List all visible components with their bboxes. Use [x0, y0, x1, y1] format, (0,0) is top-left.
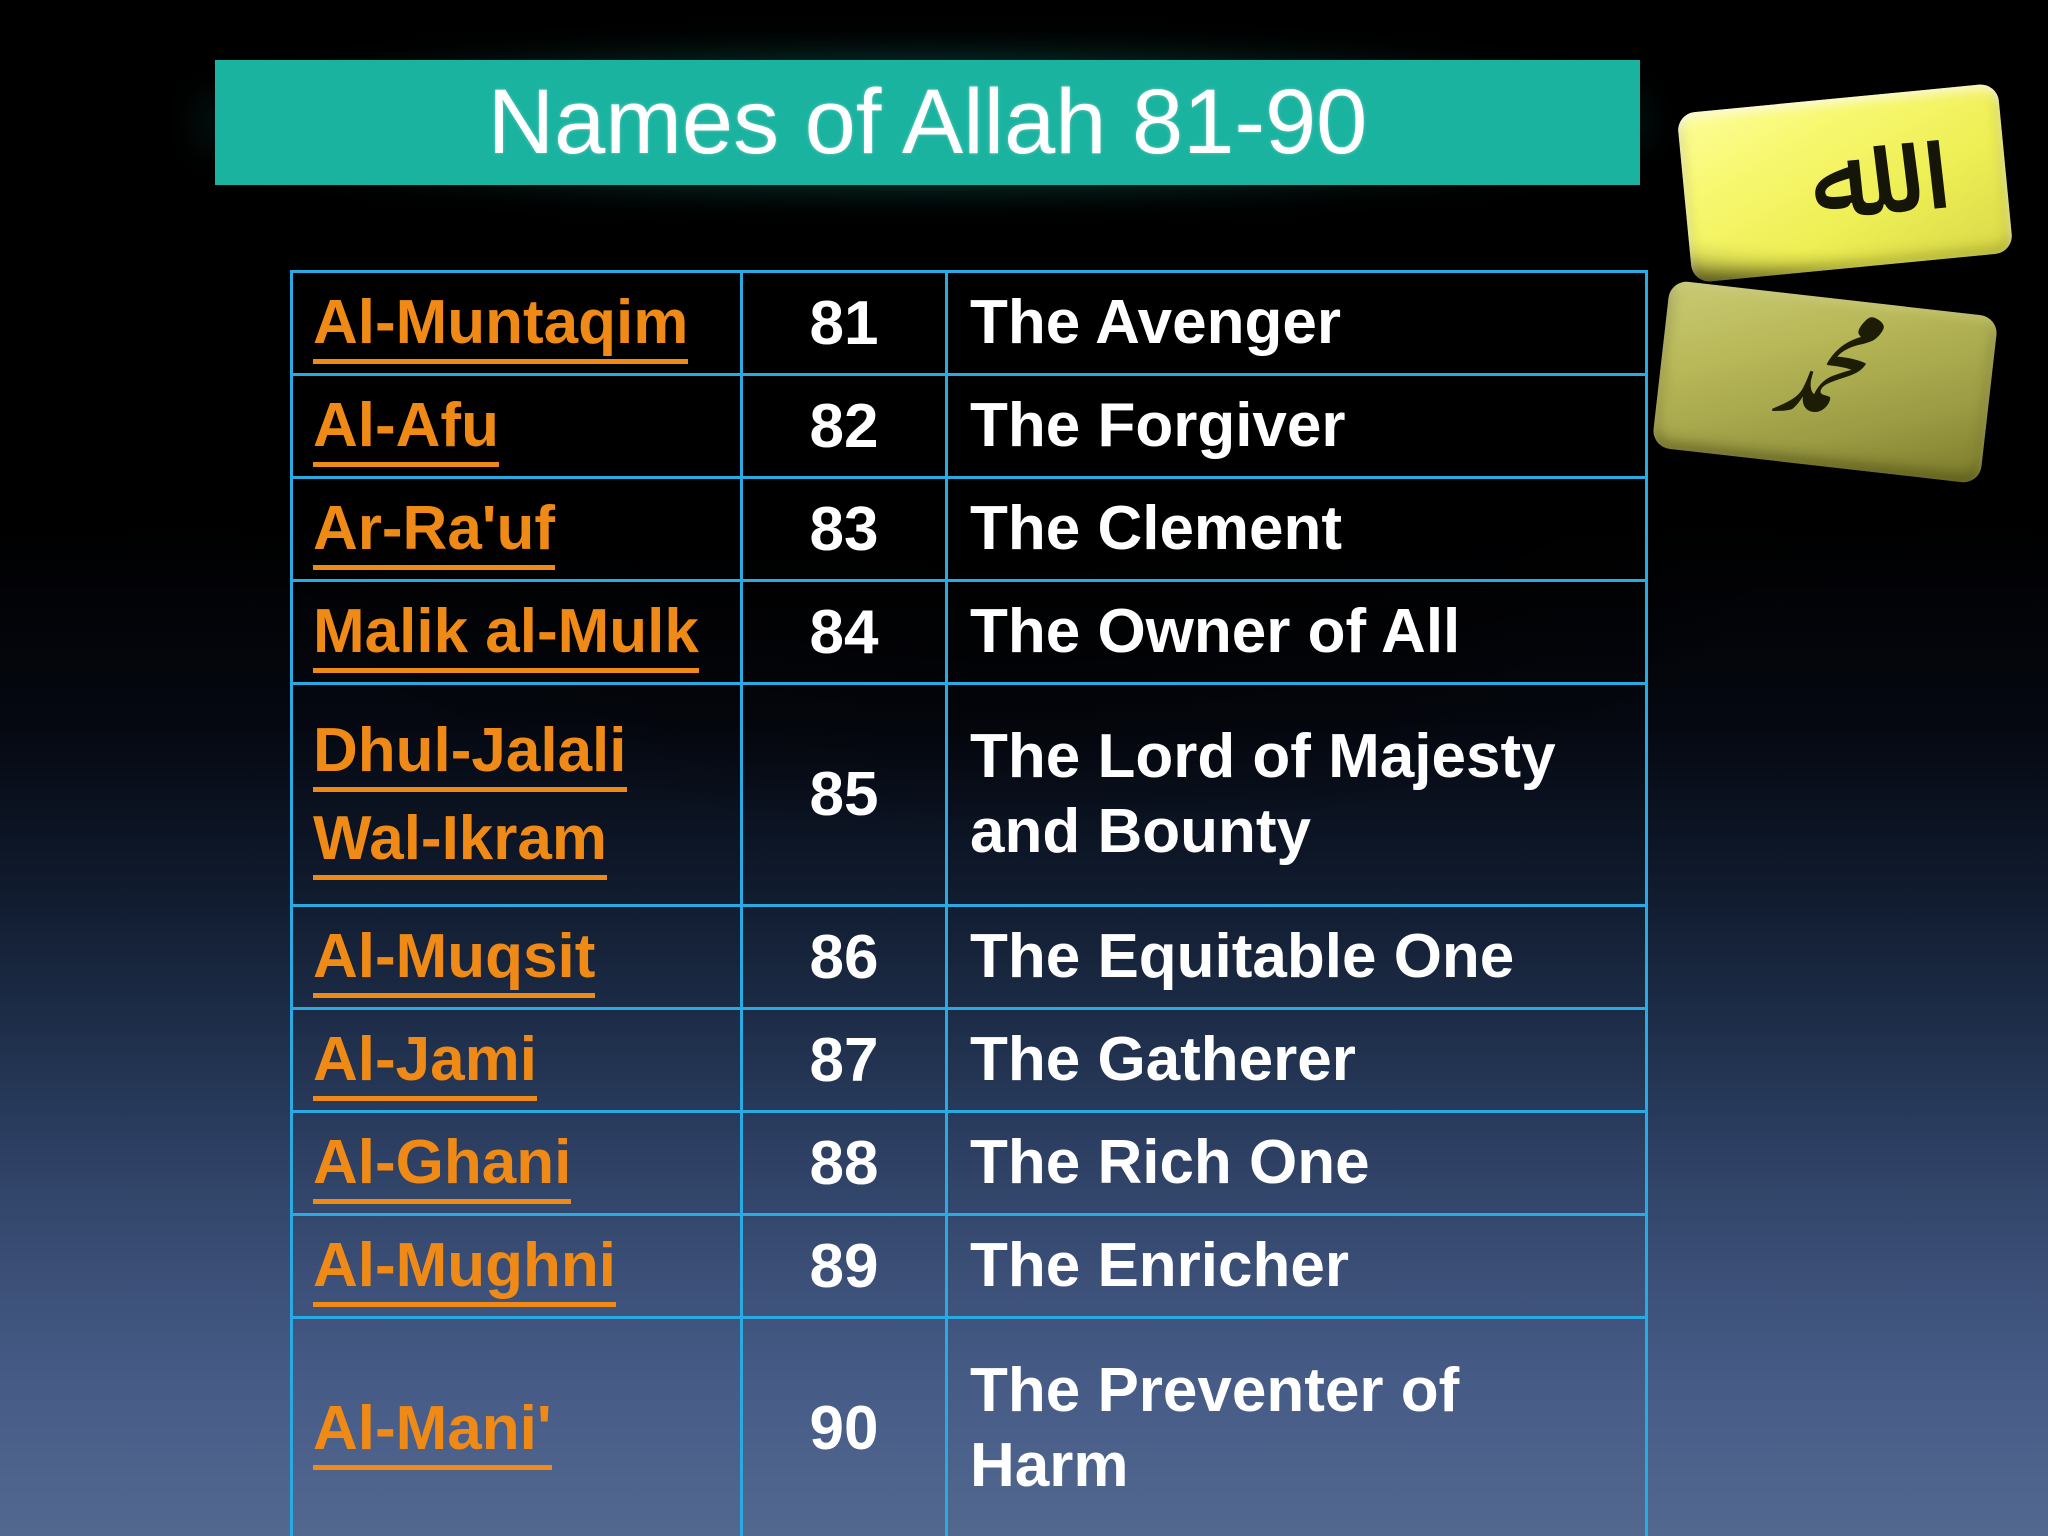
name-cell: Al-Mani': [292, 1318, 742, 1536]
meaning-cell: The Forgiver: [947, 375, 1647, 478]
meaning-cell: The Enricher: [947, 1215, 1647, 1318]
meaning-cell: The Preventer of Harm: [947, 1318, 1647, 1536]
name-text: Al-Ghani: [313, 1128, 571, 1204]
number-cell: 86: [742, 906, 947, 1009]
name-cell: Al-Muqsit: [292, 906, 742, 1009]
table-row: Al-Jami 87 The Gatherer: [292, 1009, 1647, 1112]
name-cell: Al-Ghani: [292, 1112, 742, 1215]
name-cell: Malik al-Mulk: [292, 581, 742, 684]
table-row: Malik al-Mulk 84 The Owner of All: [292, 581, 1647, 684]
table-row: Al-Mani' 90 The Preventer of Harm: [292, 1318, 1647, 1536]
number-cell: 89: [742, 1215, 947, 1318]
name-text: Al-Muqsit: [313, 922, 595, 998]
name-text: Al-Jami: [313, 1025, 537, 1101]
allah-calligraphy-glyph: ﷲ: [1805, 117, 1884, 239]
number-cell: 81: [742, 272, 947, 375]
number-cell: 87: [742, 1009, 947, 1112]
table-row: Al-Afu 82 The Forgiver: [292, 375, 1647, 478]
muhammad-calligraphy-glyph: ﷴ: [1765, 323, 1886, 435]
name-text: Al-Afu: [313, 391, 499, 467]
meaning-cell: The Equitable One: [947, 906, 1647, 1009]
number-cell: 83: [742, 478, 947, 581]
name-cell: Al-Afu: [292, 375, 742, 478]
number-cell: 88: [742, 1112, 947, 1215]
meaning-cell: The Gatherer: [947, 1009, 1647, 1112]
name-text-line2: Wal-Ikram: [313, 804, 607, 880]
table-row: Al-Ghani 88 The Rich One: [292, 1112, 1647, 1215]
table-row: Dhul-Jalali Wal-Ikram 85 The Lord of Maj…: [292, 684, 1647, 906]
page-title: Names of Allah 81-90: [488, 70, 1368, 175]
muhammad-calligraphy-plaque: ﷴ: [1652, 280, 1999, 484]
table-row: Al-Muntaqim 81 The Avenger: [292, 272, 1647, 375]
name-text: Al-Mughni: [313, 1231, 616, 1307]
name-cell: Al-Muntaqim: [292, 272, 742, 375]
allah-calligraphy-plaque: ﷲ: [1677, 83, 2014, 283]
meaning-cell: The Clement: [947, 478, 1647, 581]
number-cell: 84: [742, 581, 947, 684]
name-text: Ar-Ra'uf: [313, 494, 555, 570]
name-text: Al-Mani': [313, 1394, 552, 1470]
number-cell: 82: [742, 375, 947, 478]
table-row: Al-Muqsit 86 The Equitable One: [292, 906, 1647, 1009]
names-of-allah-table: Al-Muntaqim 81 The Avenger Al-Afu 82 The…: [290, 270, 1648, 1536]
name-cell: Dhul-Jalali Wal-Ikram: [292, 684, 742, 906]
name-cell: Al-Jami: [292, 1009, 742, 1112]
table-row: Al-Mughni 89 The Enricher: [292, 1215, 1647, 1318]
slide-canvas: Names of Allah 81-90 ﷲ ﷴ Al-Muntaqim 81 …: [0, 0, 2048, 1536]
meaning-cell: The Lord of Majesty and Bounty: [947, 684, 1647, 906]
number-cell: 85: [742, 684, 947, 906]
name-text: Dhul-Jalali: [313, 716, 627, 792]
table-row: Ar-Ra'uf 83 The Clement: [292, 478, 1647, 581]
name-cell: Ar-Ra'uf: [292, 478, 742, 581]
name-text: Malik al-Mulk: [313, 597, 699, 673]
title-bar: Names of Allah 81-90: [215, 60, 1640, 185]
number-cell: 90: [742, 1318, 947, 1536]
meaning-cell: The Rich One: [947, 1112, 1647, 1215]
name-cell: Al-Mughni: [292, 1215, 742, 1318]
name-text: Al-Muntaqim: [313, 288, 688, 364]
meaning-cell: The Owner of All: [947, 581, 1647, 684]
meaning-cell: The Avenger: [947, 272, 1647, 375]
